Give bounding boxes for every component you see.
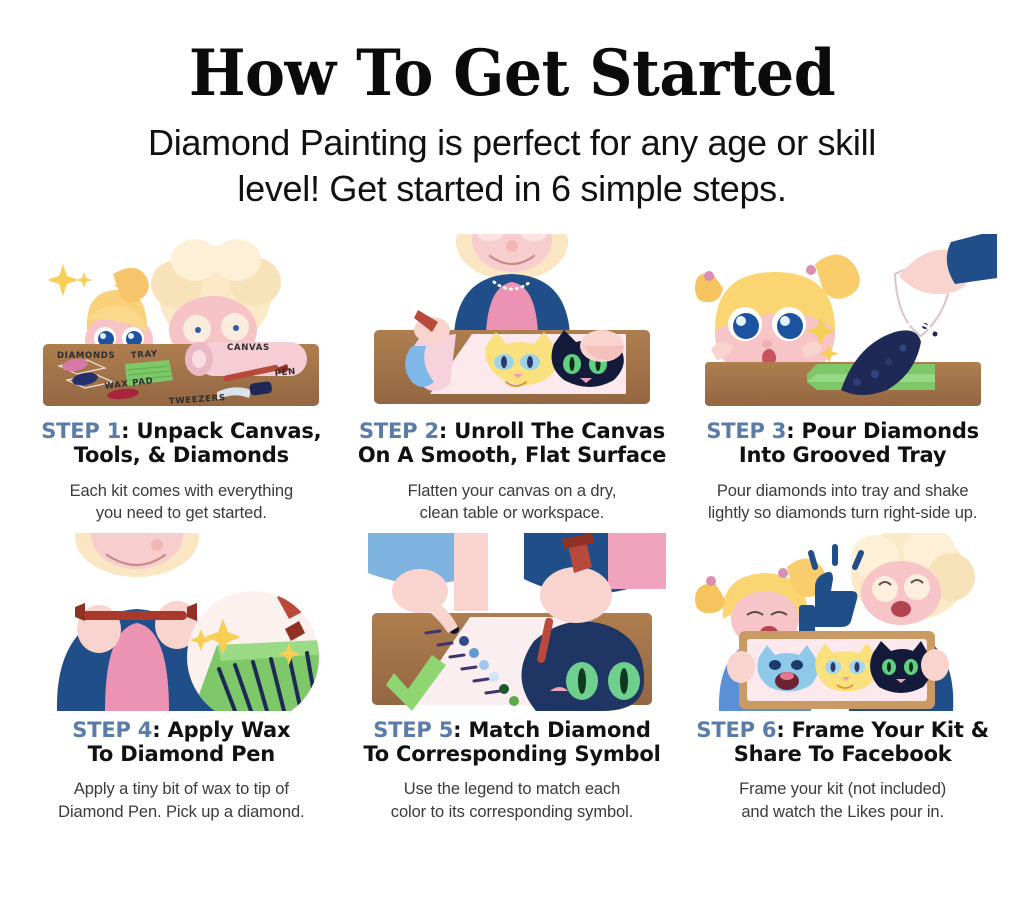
step-number-2: STEP 2 bbox=[359, 419, 439, 443]
pour-diamonds-svg bbox=[689, 234, 997, 412]
step-desc-line1-6: Frame your kit (not included) bbox=[739, 778, 946, 800]
header: How To Get Started Diamond Painting is p… bbox=[0, 0, 1024, 212]
hand-right-6 bbox=[921, 649, 949, 681]
step-description-1: Each kit comes with everything you need … bbox=[70, 480, 294, 525]
step-heading-6: STEP 6: Frame Your Kit & Share To Facebo… bbox=[696, 719, 988, 767]
step-description-2: Flatten your canvas on a dry, clean tabl… bbox=[408, 480, 617, 525]
unroll-canvas-illustration bbox=[358, 234, 666, 412]
step-title-line1-5: Match Diamond bbox=[468, 718, 650, 742]
step-desc-line1-5: Use the legend to match each bbox=[391, 778, 633, 800]
apply-wax-svg bbox=[27, 533, 335, 711]
step-title-line2-2: On A Smooth, Flat Surface bbox=[358, 444, 666, 468]
step-desc-line1-4: Apply a tiny bit of wax to tip of bbox=[58, 778, 304, 800]
step-number-1: STEP 1 bbox=[41, 419, 121, 443]
step-title-line2-1: Tools, & Diamonds bbox=[41, 444, 321, 468]
step-title-line1-4: Apply Wax bbox=[168, 718, 291, 742]
step-desc-line2-6: and watch the Likes pour in. bbox=[739, 801, 946, 823]
step-heading-1: STEP 1: Unpack Canvas, Tools, & Diamonds bbox=[41, 420, 321, 468]
unpack-canvas-svg: DIAMONDS TRAY WAX PAD TWEEZERS CANVAS PE… bbox=[27, 234, 335, 412]
step-card-3: STEP 3: Pour Diamonds Into Grooved Tray … bbox=[677, 234, 1008, 524]
step-title-line2-3: Into Grooved Tray bbox=[706, 444, 979, 468]
unpack-canvas-illustration: DIAMONDS TRAY WAX PAD TWEEZERS CANVAS PE… bbox=[27, 234, 335, 412]
step-desc-line2-1: you need to get started. bbox=[70, 502, 294, 524]
step-description-3: Pour diamonds into tray and shake lightl… bbox=[708, 480, 977, 525]
step-card-1: DIAMONDS TRAY WAX PAD TWEEZERS CANVAS PE… bbox=[16, 234, 347, 524]
step-heading-2: STEP 2: Unroll The Canvas On A Smooth, F… bbox=[358, 420, 666, 468]
step-card-2: STEP 2: Unroll The Canvas On A Smooth, F… bbox=[347, 234, 678, 524]
unroll-canvas-svg bbox=[358, 234, 666, 412]
diamond-pen bbox=[79, 611, 187, 620]
step-separator-5: : bbox=[453, 718, 468, 742]
step-card-5: STEP 5: Match Diamond To Corresponding S… bbox=[347, 533, 678, 823]
frame-kit-illustration bbox=[689, 533, 997, 711]
infographic-page: How To Get Started Diamond Painting is p… bbox=[0, 0, 1024, 923]
step-number-6: STEP 6 bbox=[696, 718, 776, 742]
step-heading-5: STEP 5: Match Diamond To Corresponding S… bbox=[363, 719, 660, 767]
step-desc-line2-2: clean table or workspace. bbox=[408, 502, 617, 524]
steps-grid: DIAMONDS TRAY WAX PAD TWEEZERS CANVAS PE… bbox=[0, 234, 1024, 823]
step-description-6: Frame your kit (not included) and watch … bbox=[739, 778, 946, 823]
step-title-line1-6: Frame Your Kit & bbox=[792, 718, 989, 742]
label-canvas: CANVAS bbox=[227, 343, 270, 353]
step-desc-line1-2: Flatten your canvas on a dry, bbox=[408, 480, 617, 502]
hand-left-roll bbox=[414, 310, 450, 343]
step-desc-line2-5: color to its corresponding symbol. bbox=[391, 801, 633, 823]
step-heading-4: STEP 4: Apply Wax To Diamond Pen bbox=[72, 719, 290, 767]
woman-body bbox=[454, 274, 570, 334]
hand-right bbox=[580, 330, 624, 362]
step-number-5: STEP 5 bbox=[373, 718, 453, 742]
frame-kit-svg bbox=[689, 533, 997, 711]
step-card-6: STEP 6: Frame Your Kit & Share To Facebo… bbox=[677, 533, 1008, 823]
step-title-line1-3: Pour Diamonds bbox=[802, 419, 979, 443]
pouring-hand bbox=[899, 234, 997, 294]
step-separator-1: : bbox=[121, 419, 136, 443]
step-desc-line1-1: Each kit comes with everything bbox=[70, 480, 294, 502]
apply-wax-illustration bbox=[27, 533, 335, 711]
zoom-circle bbox=[187, 583, 335, 711]
step-title-line1-1: Unpack Canvas, bbox=[136, 419, 321, 443]
step-desc-line1-3: Pour diamonds into tray and shake bbox=[708, 480, 977, 502]
step-separator-2: : bbox=[439, 419, 454, 443]
step-desc-line2-3: lightly so diamonds turn right-side up. bbox=[708, 502, 977, 524]
pour-diamonds-illustration bbox=[689, 234, 997, 412]
subtitle-line-2: level! Get started in 6 simple steps. bbox=[72, 166, 952, 212]
step-title-line2-4: To Diamond Pen bbox=[72, 743, 290, 767]
woman-head bbox=[456, 234, 568, 280]
label-diamonds: DIAMONDS bbox=[57, 351, 115, 361]
page-subtitle: Diamond Painting is perfect for any age … bbox=[72, 120, 952, 212]
step-number-4: STEP 4 bbox=[72, 718, 152, 742]
step-number-3: STEP 3 bbox=[706, 419, 786, 443]
label-tray: TRAY bbox=[131, 349, 159, 361]
subtitle-line-1: Diamond Painting is perfect for any age … bbox=[72, 120, 952, 166]
step-desc-line2-4: Diamond Pen. Pick up a diamond. bbox=[58, 801, 304, 823]
step-separator-3: : bbox=[786, 419, 801, 443]
page-title: How To Get Started bbox=[0, 42, 1024, 106]
hand-left-6 bbox=[727, 651, 755, 683]
woman-head-4 bbox=[75, 533, 199, 577]
step-separator-6: : bbox=[776, 718, 791, 742]
step-description-5: Use the legend to match each color to it… bbox=[391, 778, 633, 823]
step-title-line2-6: Share To Facebook bbox=[696, 743, 988, 767]
step-description-4: Apply a tiny bit of wax to tip of Diamon… bbox=[58, 778, 304, 823]
framed-painting bbox=[739, 631, 935, 709]
step-title-line1-2: Unroll The Canvas bbox=[454, 419, 665, 443]
match-symbol-svg bbox=[358, 533, 666, 711]
step-title-line2-5: To Corresponding Symbol bbox=[363, 743, 660, 767]
step-card-4: STEP 4: Apply Wax To Diamond Pen Apply a… bbox=[16, 533, 347, 823]
step-separator-4: : bbox=[152, 718, 167, 742]
match-symbol-illustration bbox=[358, 533, 666, 711]
step-heading-3: STEP 3: Pour Diamonds Into Grooved Tray bbox=[706, 420, 979, 468]
